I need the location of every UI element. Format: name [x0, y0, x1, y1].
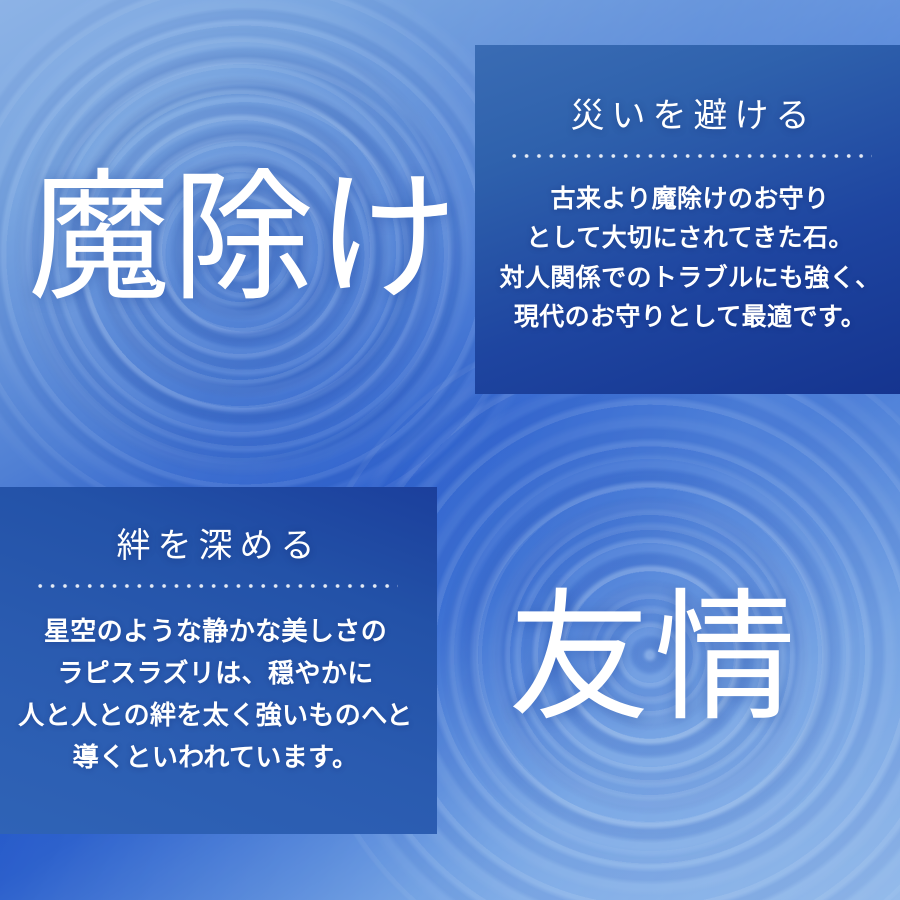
- panel-heading-kizuna: 絆を深める: [8, 527, 423, 568]
- panel-body-line: 古来より魔除けのお守り: [493, 180, 887, 220]
- panel-heading-yakuyoke: 災いを避ける: [493, 97, 887, 138]
- panel-body-line: 導くといわれています。: [8, 736, 423, 778]
- panel-body-line: ラピスラズリは、穏やかに: [8, 652, 423, 694]
- promo-banner: 魔除け 友情 災いを避ける 古来より魔除けのお守り として大切にされてきた石。 …: [0, 0, 900, 900]
- headline-maoke: 魔除け: [28, 168, 460, 310]
- panel-body-yakuyoke: 古来より魔除けのお守り として大切にされてきた石。 対人関係でのトラブルにも強く…: [493, 180, 887, 338]
- panel-body-line: 対人関係でのトラブルにも強く、: [493, 259, 887, 299]
- dotted-divider-kizuna: [34, 584, 398, 588]
- headline-yujo: 友情: [508, 588, 800, 730]
- panel-body-kizuna: 星空のような静かな美しさの ラピスラズリは、穏やかに 人と人との絆を太く強いもの…: [8, 610, 423, 778]
- info-panel-yakuyoke: 災いを避ける 古来より魔除けのお守り として大切にされてきた石。 対人関係でのト…: [475, 45, 900, 394]
- dotted-divider-yakuyoke: [508, 154, 872, 158]
- panel-body-line: 現代のお守りとして最適です。: [493, 298, 887, 338]
- panel-body-line: として大切にされてきた石。: [493, 219, 887, 259]
- panel-body-line: 人と人との絆を太く強いものへと: [8, 694, 423, 736]
- info-panel-kizuna: 絆を深める 星空のような静かな美しさの ラピスラズリは、穏やかに 人と人との絆を…: [0, 487, 437, 834]
- panel-body-line: 星空のような静かな美しさの: [8, 610, 423, 652]
